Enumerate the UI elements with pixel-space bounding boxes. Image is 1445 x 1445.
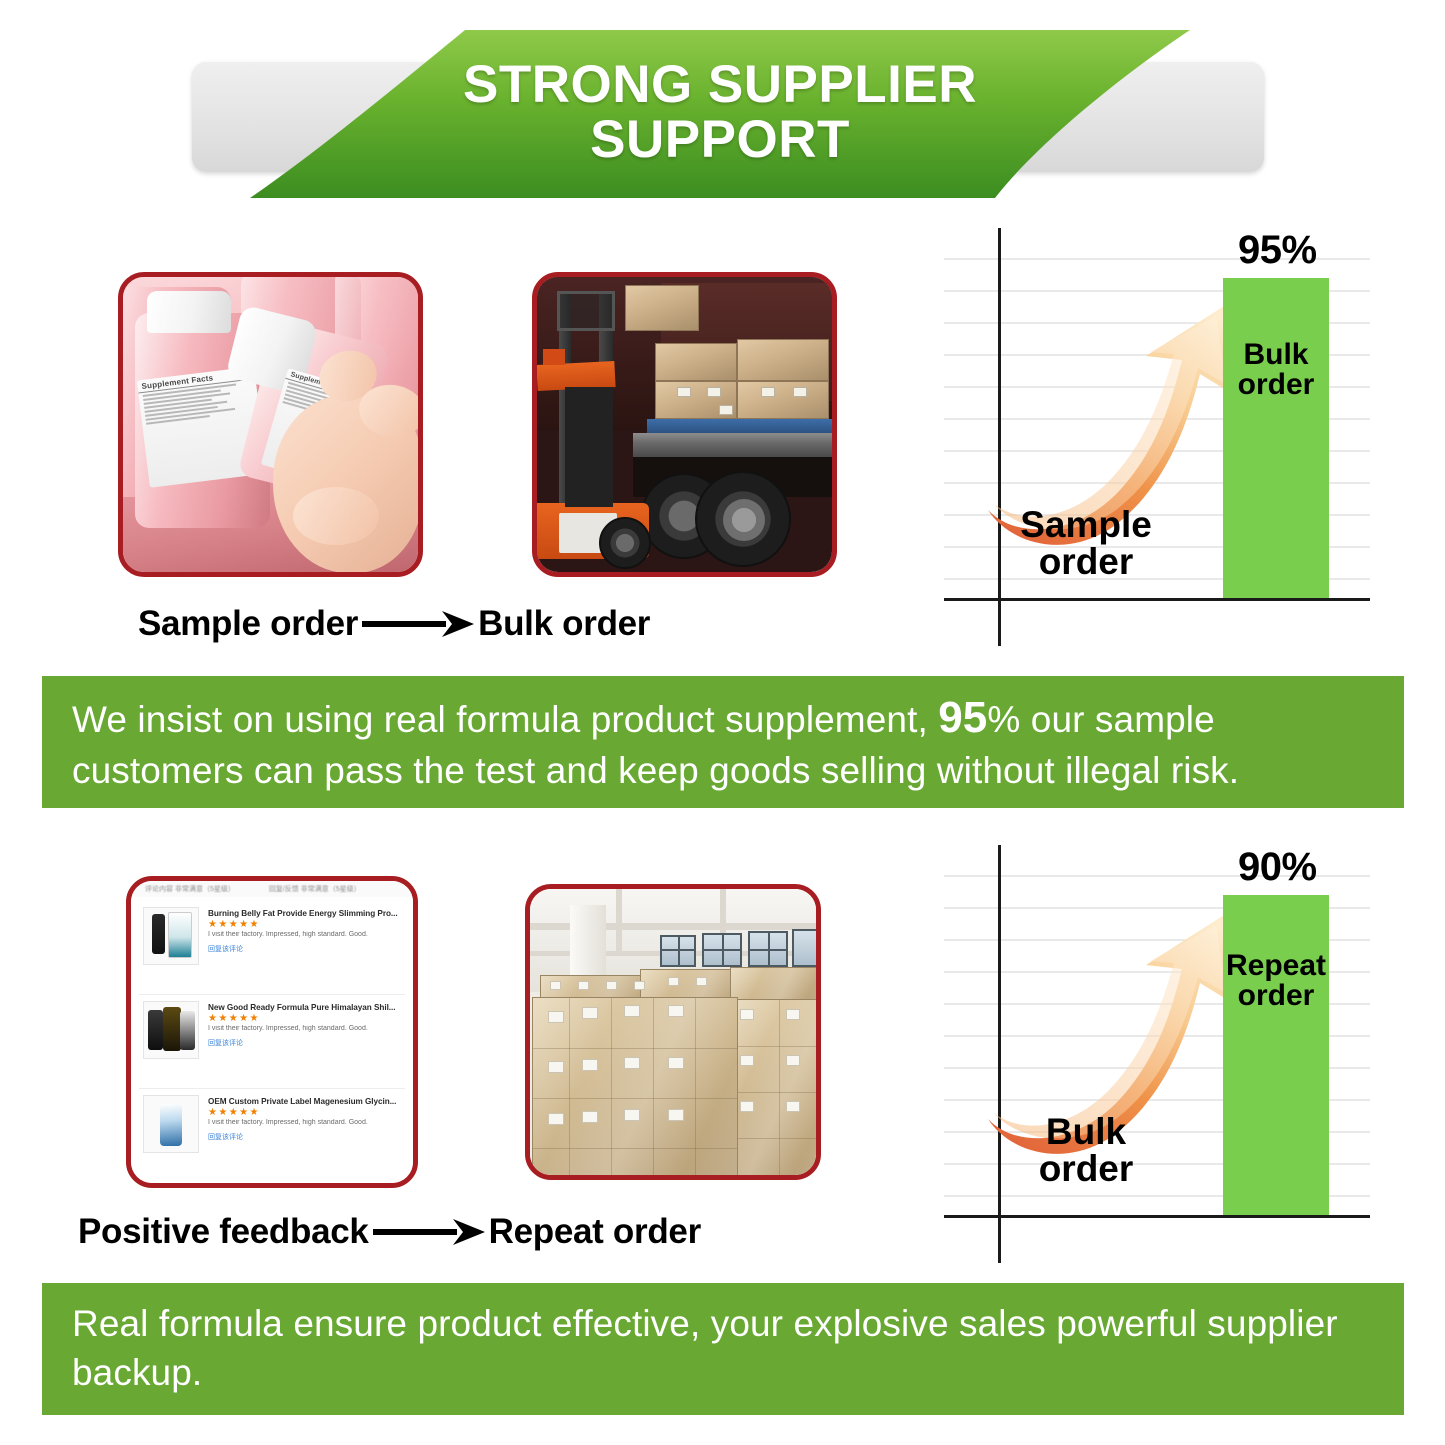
- reviews-header-right: 回复/反馈 非常满意（5星级）: [269, 884, 361, 894]
- band1-highlight: 95: [938, 693, 987, 742]
- chart-2-x-axis: [944, 1215, 1370, 1218]
- caption-row-sample-to-bulk: Sample order Bulk order: [138, 596, 838, 652]
- review-title: OEM Custom Private Label Magenesium Glyc…: [208, 1097, 405, 1106]
- reply-link[interactable]: 回复该评论: [208, 1038, 405, 1048]
- chart-2-bar-repeat-order: Repeat order: [1223, 895, 1329, 1215]
- reply-link[interactable]: 回复该评论: [208, 944, 405, 954]
- arrow-right-icon: [358, 609, 478, 639]
- chart-2-plot: Repeat order 90% Bulk order: [938, 845, 1370, 1257]
- chart-1-value-label: 95%: [1238, 228, 1317, 273]
- review-thumbnail: [143, 1095, 199, 1153]
- chart-2-value-label: 90%: [1238, 845, 1317, 890]
- photo-bulk-loading: [532, 272, 837, 577]
- chart-1-x-axis: [944, 598, 1370, 601]
- green-band-sample-claim: We insist on using real formula product …: [42, 676, 1404, 808]
- header-banner: STRONG SUPPLIER SUPPORT: [0, 0, 1445, 200]
- reviews-header-left: 评论内容 非常满意（5星级）: [145, 884, 235, 894]
- chart-2-bar-label: Repeat order: [1223, 951, 1329, 1011]
- chart-1-baseline-label: Sample order: [976, 506, 1196, 580]
- caption-positive-feedback: Positive feedback: [78, 1212, 369, 1252]
- review-text: I visit their factory. Impressed, high s…: [208, 931, 405, 938]
- review-title: New Good Ready Formula Pure Himalayan Sh…: [208, 1003, 405, 1012]
- chart-1-bar-bulk-order: Bulk order: [1223, 278, 1329, 598]
- green-band-1-text: We insist on using real formula product …: [72, 689, 1374, 796]
- chart-1-plot: Bulk order 95% Sample order: [938, 228, 1370, 640]
- chart-1-y-axis-tail: [998, 598, 1001, 646]
- chart-sample-to-bulk: Bulk order 95% Sample order: [938, 228, 1370, 640]
- chart-1-bar-label: Bulk order: [1223, 340, 1329, 400]
- arrow-right-icon: [369, 1217, 489, 1247]
- review-text: I visit their factory. Impressed, high s…: [208, 1119, 405, 1126]
- photo-sample-bottles: Supplement Facts Supplement Facts: [118, 272, 423, 577]
- rating-stars-icon: ★★★★★: [208, 1108, 405, 1118]
- caption-repeat-order: Repeat order: [489, 1212, 701, 1252]
- review-thumbnail: [143, 907, 199, 965]
- page-title: STRONG SUPPLIER SUPPORT: [330, 58, 1110, 167]
- reviews-header-bar: 评论内容 非常满意（5星级） 回复/反馈 非常满意（5星级）: [131, 881, 413, 897]
- caption-sample-order: Sample order: [138, 604, 358, 644]
- chart-bulk-to-repeat: Repeat order 90% Bulk order: [938, 845, 1370, 1257]
- photo-positive-feedback: 评论内容 非常满意（5星级） 回复/反馈 非常满意（5星级） Burning B…: [126, 876, 418, 1188]
- list-item[interactable]: Burning Belly Fat Provide Energy Slimmin…: [139, 903, 405, 995]
- rating-stars-icon: ★★★★★: [208, 920, 405, 930]
- reply-link[interactable]: 回复该评论: [208, 1132, 405, 1142]
- list-item[interactable]: OEM Custom Private Label Magenesium Glyc…: [139, 1091, 405, 1183]
- photo-repeat-order-warehouse: [525, 884, 821, 1180]
- green-band-repeat-claim: Real formula ensure product effective, y…: [42, 1283, 1404, 1415]
- chart-2-y-axis-tail: [998, 1215, 1001, 1263]
- caption-bulk-order: Bulk order: [478, 604, 650, 644]
- caption-row-feedback-to-repeat: Positive feedback Repeat order: [78, 1204, 838, 1260]
- review-text: I visit their factory. Impressed, high s…: [208, 1025, 405, 1032]
- green-band-2-text: Real formula ensure product effective, y…: [72, 1300, 1374, 1398]
- list-item[interactable]: New Good Ready Formula Pure Himalayan Sh…: [139, 997, 405, 1089]
- chart-2-baseline-label: Bulk order: [976, 1113, 1196, 1187]
- review-thumbnail: [143, 1001, 199, 1059]
- rating-stars-icon: ★★★★★: [208, 1014, 405, 1024]
- review-title: Burning Belly Fat Provide Energy Slimmin…: [208, 909, 405, 918]
- band1-before: We insist on using real formula product …: [72, 699, 938, 740]
